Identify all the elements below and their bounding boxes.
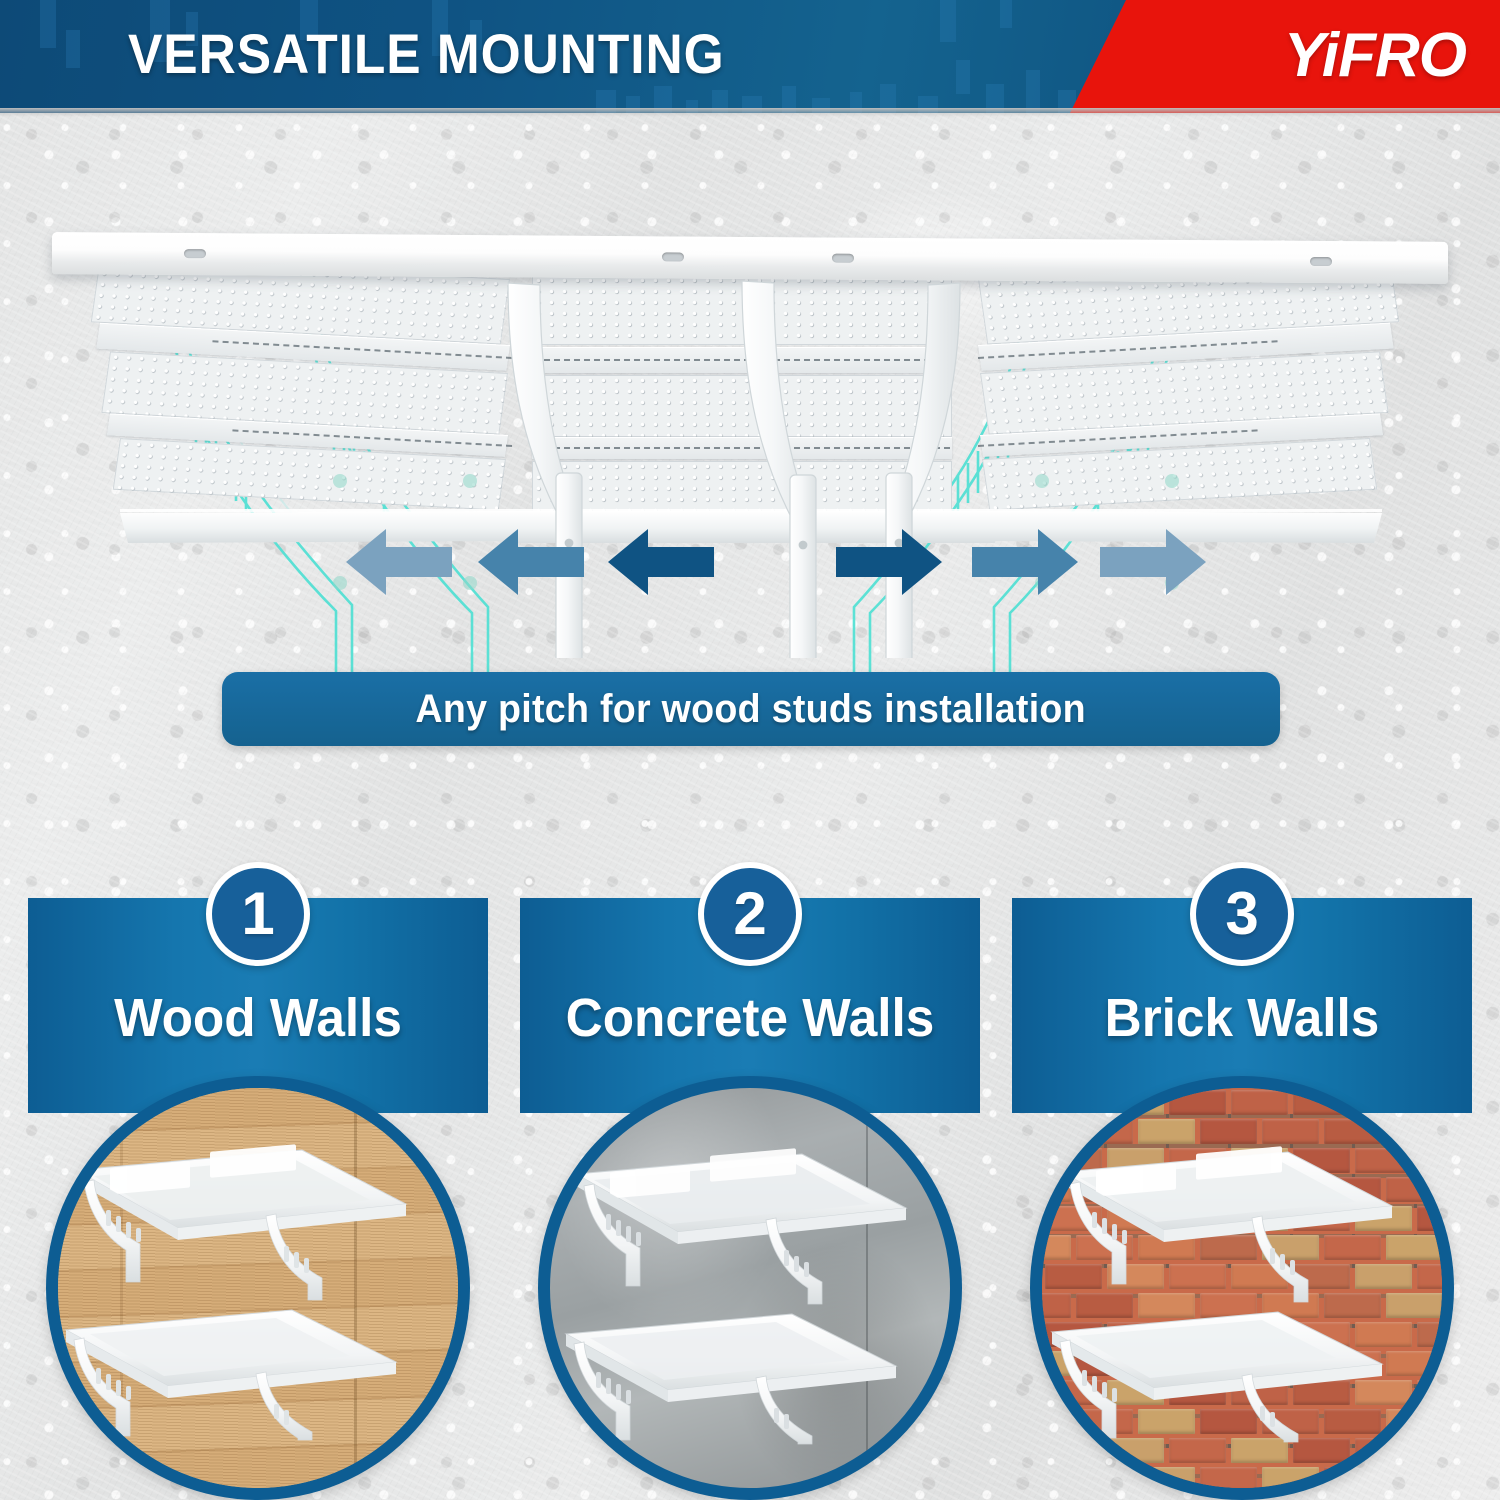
brick: [1417, 1264, 1442, 1289]
photo-ring: [46, 1076, 470, 1500]
brick: [1417, 1206, 1442, 1231]
brick: [1324, 1119, 1381, 1144]
wall-type-card[interactable]: 1 Wood Walls: [28, 898, 488, 1458]
page-title: VERSATILE MOUNTING: [128, 18, 725, 90]
brick: [1417, 1438, 1442, 1463]
shelf-lower: [1046, 1312, 1386, 1442]
brick: [1045, 1090, 1102, 1115]
shelf-upper: [1056, 1152, 1396, 1302]
brick: [1138, 1119, 1195, 1144]
brick: [1417, 1322, 1442, 1347]
brick: [1386, 1409, 1442, 1434]
wall-type-card[interactable]: 3 Brick Walls: [1012, 898, 1472, 1458]
brick: [1042, 1467, 1071, 1488]
brick: [1076, 1119, 1133, 1144]
shelf-lower: [60, 1310, 400, 1440]
infographic-canvas: VERSATILE MOUNTING YiFRO: [0, 0, 1500, 1500]
wall-photo-wood: [58, 1088, 458, 1488]
step-number-badge: 2: [698, 862, 802, 966]
card-title: Wood Walls: [40, 986, 477, 1050]
wall-type-card[interactable]: 2 Concrete Walls: [520, 898, 980, 1458]
card-title: Brick Walls: [1024, 986, 1461, 1050]
brick: [1138, 1467, 1195, 1488]
brick: [1169, 1090, 1226, 1115]
wall-type-cards: 1 Wood Walls: [0, 860, 1500, 1500]
brick: [1200, 1467, 1257, 1488]
shelf-upper: [570, 1154, 910, 1304]
brick: [1200, 1119, 1257, 1144]
brick: [1417, 1090, 1442, 1115]
header-bar: VERSATILE MOUNTING YiFRO: [0, 0, 1500, 113]
brick: [1262, 1467, 1319, 1488]
brick: [1417, 1380, 1442, 1405]
shelf-upper: [70, 1150, 410, 1300]
photo-ring: [538, 1076, 962, 1500]
brick: [1386, 1119, 1442, 1144]
brick: [1076, 1467, 1133, 1488]
brand-logo: YiFRO: [1284, 17, 1466, 95]
brick: [1107, 1090, 1164, 1115]
step-number: 1: [241, 884, 274, 944]
wall-photo-brick: [1042, 1088, 1442, 1488]
callout-banner: Any pitch for wood studs installation: [222, 672, 1280, 746]
brick: [1293, 1090, 1350, 1115]
brick: [1417, 1148, 1442, 1173]
shelf-lower: [560, 1314, 900, 1444]
photo-ring: [1030, 1076, 1454, 1500]
brick: [1386, 1351, 1442, 1376]
brick: [1231, 1090, 1288, 1115]
step-number: 2: [733, 884, 766, 944]
callout-text: Any pitch for wood studs installation: [416, 687, 1087, 732]
step-number-badge: 3: [1190, 862, 1294, 966]
brick: [1042, 1119, 1071, 1144]
step-number-badge: 1: [206, 862, 310, 966]
brick: [1262, 1119, 1319, 1144]
wall-anchor-points: [0, 113, 1500, 658]
brick: [1355, 1090, 1412, 1115]
brick: [1324, 1467, 1381, 1488]
hero-product-illustration: [0, 113, 1500, 658]
wall-photo-concrete: [550, 1088, 950, 1488]
brick: [1386, 1467, 1442, 1488]
step-number: 3: [1225, 884, 1258, 944]
card-title: Concrete Walls: [532, 986, 969, 1050]
